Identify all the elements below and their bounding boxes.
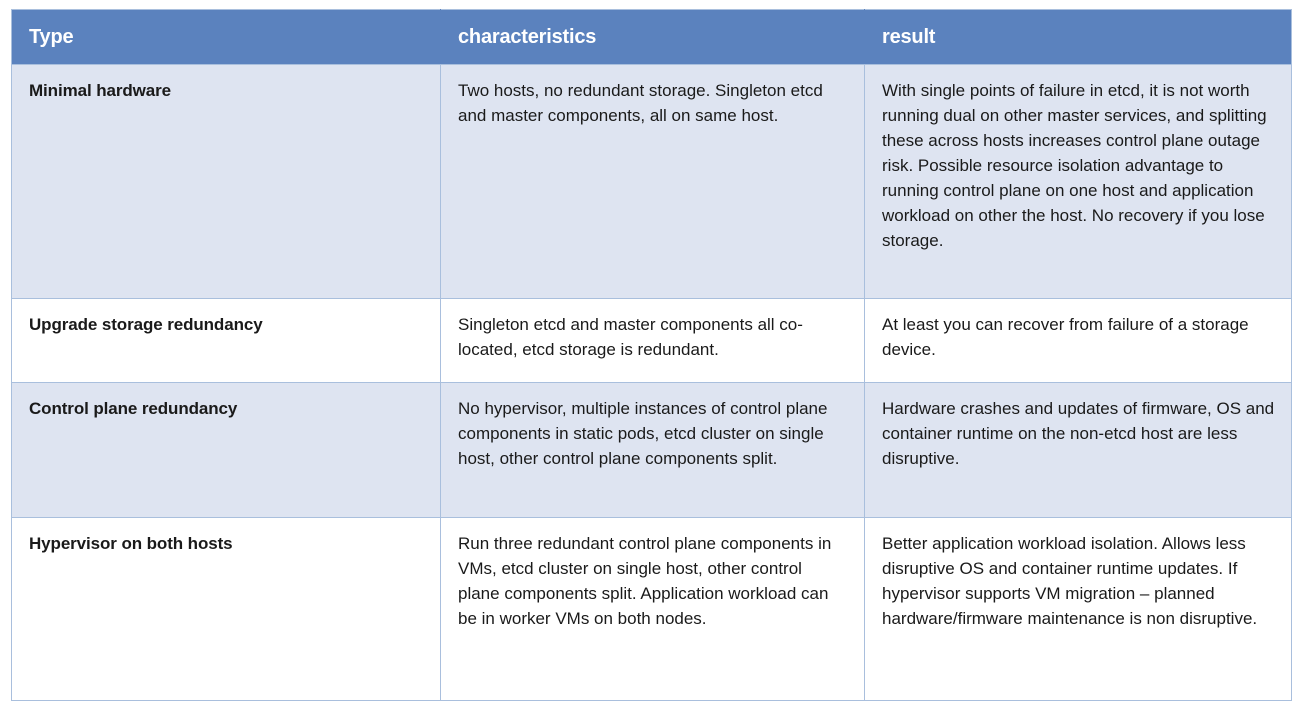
cell-type-text: Control plane redundancy [29, 396, 424, 421]
cell-type: Control plane redundancy [12, 383, 441, 518]
table-header-row: Type characteristics result [12, 10, 1292, 65]
cell-type: Minimal hardware [12, 65, 441, 299]
cell-type: Hypervisor on both hosts [12, 518, 441, 701]
column-header-type: Type [12, 10, 441, 65]
cell-type-text: Minimal hardware [29, 78, 424, 103]
cell-result: Better application workload isolation. A… [865, 518, 1292, 701]
cell-characteristics: Two hosts, no redundant storage. Singlet… [441, 65, 865, 299]
cell-result-text: With single points of failure in etcd, i… [882, 78, 1275, 253]
cell-result-text: Better application workload isolation. A… [882, 531, 1275, 631]
cell-result-text: At least you can recover from failure of… [882, 312, 1275, 362]
comparison-table: Type characteristics result Minimal hard… [11, 9, 1292, 701]
cell-type-text: Upgrade storage redundancy [29, 312, 424, 337]
cell-type: Upgrade storage redundancy [12, 299, 441, 383]
table-row: Hypervisor on both hosts Run three redun… [12, 518, 1292, 701]
cell-characteristics: Singleton etcd and master components all… [441, 299, 865, 383]
table-row: Upgrade storage redundancy Singleton etc… [12, 299, 1292, 383]
cell-type-text: Hypervisor on both hosts [29, 531, 424, 556]
table-row: Minimal hardware Two hosts, no redundant… [12, 65, 1292, 299]
page-root: Type characteristics result Minimal hard… [0, 0, 1302, 708]
column-header-result: result [865, 10, 1292, 65]
table-body: Minimal hardware Two hosts, no redundant… [12, 65, 1292, 701]
cell-result-text: Hardware crashes and updates of firmware… [882, 396, 1275, 471]
cell-result: At least you can recover from failure of… [865, 299, 1292, 383]
cell-result: With single points of failure in etcd, i… [865, 65, 1292, 299]
cell-characteristics: Run three redundant control plane compon… [441, 518, 865, 701]
cell-characteristics-text: Singleton etcd and master components all… [458, 312, 848, 362]
cell-characteristics-text: Run three redundant control plane compon… [458, 531, 848, 631]
comparison-table-container: Type characteristics result Minimal hard… [11, 9, 1291, 701]
cell-characteristics-text: Two hosts, no redundant storage. Singlet… [458, 78, 848, 128]
column-header-characteristics: characteristics [441, 10, 865, 65]
table-row: Control plane redundancy No hypervisor, … [12, 383, 1292, 518]
cell-result: Hardware crashes and updates of firmware… [865, 383, 1292, 518]
cell-characteristics: No hypervisor, multiple instances of con… [441, 383, 865, 518]
cell-characteristics-text: No hypervisor, multiple instances of con… [458, 396, 848, 471]
table-header: Type characteristics result [12, 10, 1292, 65]
